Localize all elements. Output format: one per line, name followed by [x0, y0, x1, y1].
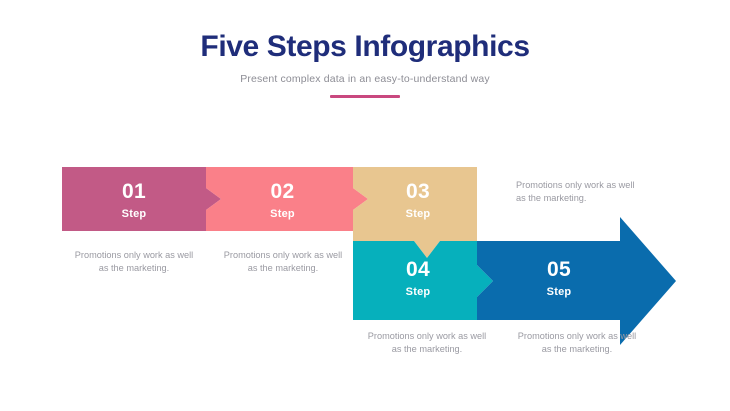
- infographic-page: Five Steps Infographics Present complex …: [0, 0, 730, 411]
- step-description-02: Promotions only work as well as the mark…: [222, 249, 344, 275]
- step-shape-05[interactable]: [477, 217, 676, 345]
- step-description-03: Promotions only work as well as the mark…: [516, 179, 640, 205]
- step-shape-01[interactable]: [62, 167, 221, 231]
- step-shape-04[interactable]: [353, 241, 493, 320]
- step-description-04: Promotions only work as well as the mark…: [366, 330, 488, 356]
- step-description-05: Promotions only work as well as the mark…: [516, 330, 638, 356]
- step-shape-02[interactable]: [206, 167, 368, 231]
- step-flow-diagram: 01 Step 02 Step 03 Step 04 Step 05 Step …: [0, 0, 730, 411]
- step-description-01: Promotions only work as well as the mark…: [73, 249, 195, 275]
